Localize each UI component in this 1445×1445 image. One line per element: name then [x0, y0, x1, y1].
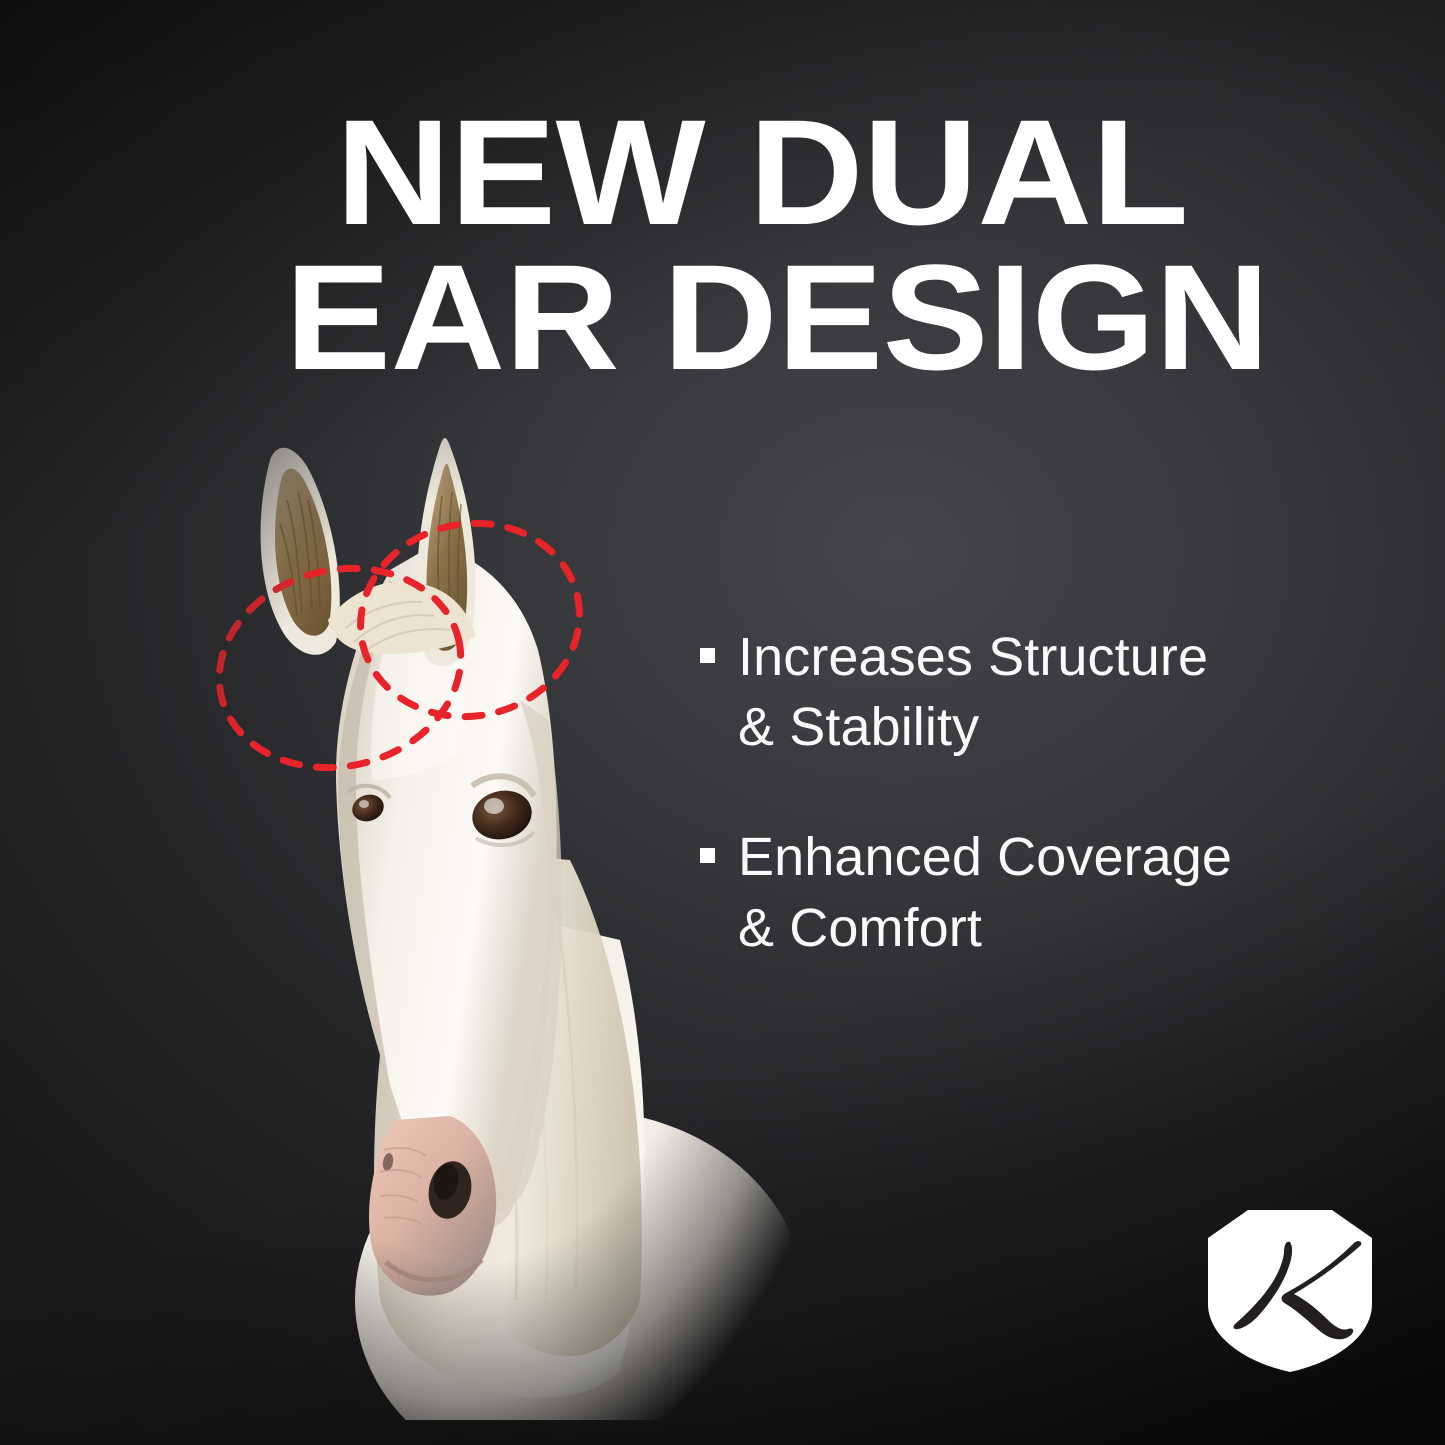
promo-image-canvas: NEW DUAL EAR DESIGN — [0, 0, 1445, 1445]
list-item: Increases Structure & Stability — [700, 622, 1360, 762]
square-bullet-icon — [700, 848, 715, 863]
headline: NEW DUAL EAR DESIGN — [285, 108, 1239, 382]
headline-line-1: NEW DUAL — [285, 108, 1239, 237]
feature-text: Increases Structure & Stability — [738, 622, 1360, 762]
feature-line-2: & Comfort — [738, 893, 1360, 963]
feature-line-2: & Stability — [738, 692, 1360, 762]
feature-list: Increases Structure & Stability Enhanced… — [700, 622, 1360, 963]
horse-artwork — [150, 420, 790, 1420]
headline-line-2: EAR DESIGN — [285, 253, 1239, 382]
square-bullet-icon — [700, 648, 715, 663]
feature-text: Enhanced Coverage & Comfort — [738, 822, 1360, 962]
feature-line-1: Increases Structure — [738, 627, 1208, 687]
brand-logo — [1202, 1204, 1378, 1376]
feature-line-1: Enhanced Coverage — [738, 827, 1232, 887]
list-item: Enhanced Coverage & Comfort — [700, 822, 1360, 962]
